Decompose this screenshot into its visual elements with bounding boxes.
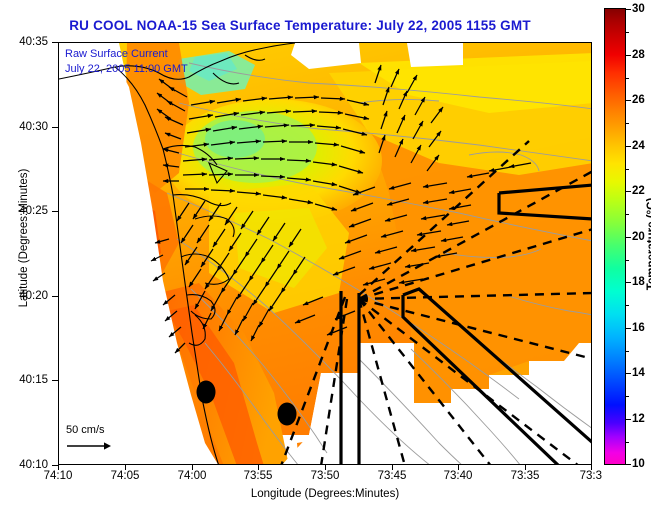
sst-raster-eddy-coldest xyxy=(205,120,265,158)
cb-minor-11 xyxy=(626,442,629,443)
y-tick-2 xyxy=(52,211,58,212)
y-axis-title: Latitude (Degrees:Minutes) xyxy=(18,128,30,348)
cb-tick-22 xyxy=(626,191,631,192)
x-tick-label-3: 73:55 xyxy=(244,470,273,482)
x-tick-label-6: 73:40 xyxy=(444,470,473,482)
cb-tick-28 xyxy=(626,55,631,56)
cb-tick-30 xyxy=(626,9,631,10)
cb-label-2: 26 xyxy=(632,94,645,106)
map-annotation: Raw Surface Current July 22, 2005 11:00 … xyxy=(65,47,188,77)
cb-label-4: 22 xyxy=(632,185,645,197)
x-tick-label-0: 74:10 xyxy=(44,470,73,482)
cb-minor-13 xyxy=(626,396,629,397)
x-tick-label-7: 73:35 xyxy=(511,470,540,482)
cb-label-8: 14 xyxy=(632,367,645,379)
map-canvas xyxy=(59,43,591,464)
x-tick-label-2: 74:00 xyxy=(178,470,207,482)
x-tick-label-5: 73:45 xyxy=(378,470,407,482)
y-tick-label-0: 40:35 xyxy=(19,36,48,48)
cb-minor-25 xyxy=(626,123,629,124)
cb-tick-14 xyxy=(626,373,631,374)
cb-tick-12 xyxy=(626,419,631,420)
right-arrow-icon xyxy=(66,439,112,457)
cb-minor-29 xyxy=(626,32,629,33)
colorbar-title: Temperature (°C) xyxy=(646,164,651,324)
cb-tick-24 xyxy=(626,146,631,147)
cb-tick-10 xyxy=(626,464,631,465)
figure-title: RU COOL NOAA-15 Sea Surface Temperature:… xyxy=(0,18,600,33)
annotation-line-2: July 22, 2005 11:00 GMT xyxy=(65,62,188,77)
y-tick-0 xyxy=(52,42,58,43)
cb-label-7: 16 xyxy=(632,322,645,334)
cb-tick-16 xyxy=(626,328,631,329)
cb-minor-21 xyxy=(626,214,629,215)
cb-minor-23 xyxy=(626,169,629,170)
x-tick-label-4: 73:50 xyxy=(311,470,340,482)
cb-tick-18 xyxy=(626,282,631,283)
annotation-line-1: Raw Surface Current xyxy=(65,47,188,62)
cb-minor-27 xyxy=(626,78,629,79)
cb-label-10: 10 xyxy=(632,458,645,470)
velocity-scale-label: 50 cm/s xyxy=(66,424,112,436)
cb-label-9: 12 xyxy=(632,413,645,425)
cb-tick-20 xyxy=(626,237,631,238)
y-tick-1 xyxy=(52,127,58,128)
x-tick-label-8: 73:3 xyxy=(580,470,602,482)
y-tick-3 xyxy=(52,296,58,297)
radar-station-marker-1[interactable] xyxy=(197,381,216,404)
y-tick-5 xyxy=(52,465,58,466)
cb-minor-19 xyxy=(626,260,629,261)
y-tick-label-5: 40:10 xyxy=(19,459,48,471)
colorbar xyxy=(604,8,626,465)
cb-label-1: 28 xyxy=(632,49,645,61)
x-tick-label-1: 74:05 xyxy=(111,470,140,482)
cb-label-0: 30 xyxy=(632,3,645,15)
cb-minor-17 xyxy=(626,305,629,306)
map-plot-area[interactable]: Raw Surface Current July 22, 2005 11:00 … xyxy=(58,42,592,465)
cb-minor-15 xyxy=(626,351,629,352)
cb-label-6: 18 xyxy=(632,276,645,288)
x-axis-title: Longitude (Degrees:Minutes) xyxy=(58,488,592,500)
y-tick-4 xyxy=(52,380,58,381)
velocity-scale-key: 50 cm/s xyxy=(66,424,112,457)
sst-map-figure: RU COOL NOAA-15 Sea Surface Temperature:… xyxy=(0,0,651,518)
cb-label-5: 20 xyxy=(632,231,645,243)
y-tick-label-4: 40:15 xyxy=(19,374,48,386)
radar-station-marker-2[interactable] xyxy=(278,403,297,426)
cb-label-3: 24 xyxy=(632,140,645,152)
cloud-mask-north2 xyxy=(407,43,463,67)
cb-tick-26 xyxy=(626,100,631,101)
